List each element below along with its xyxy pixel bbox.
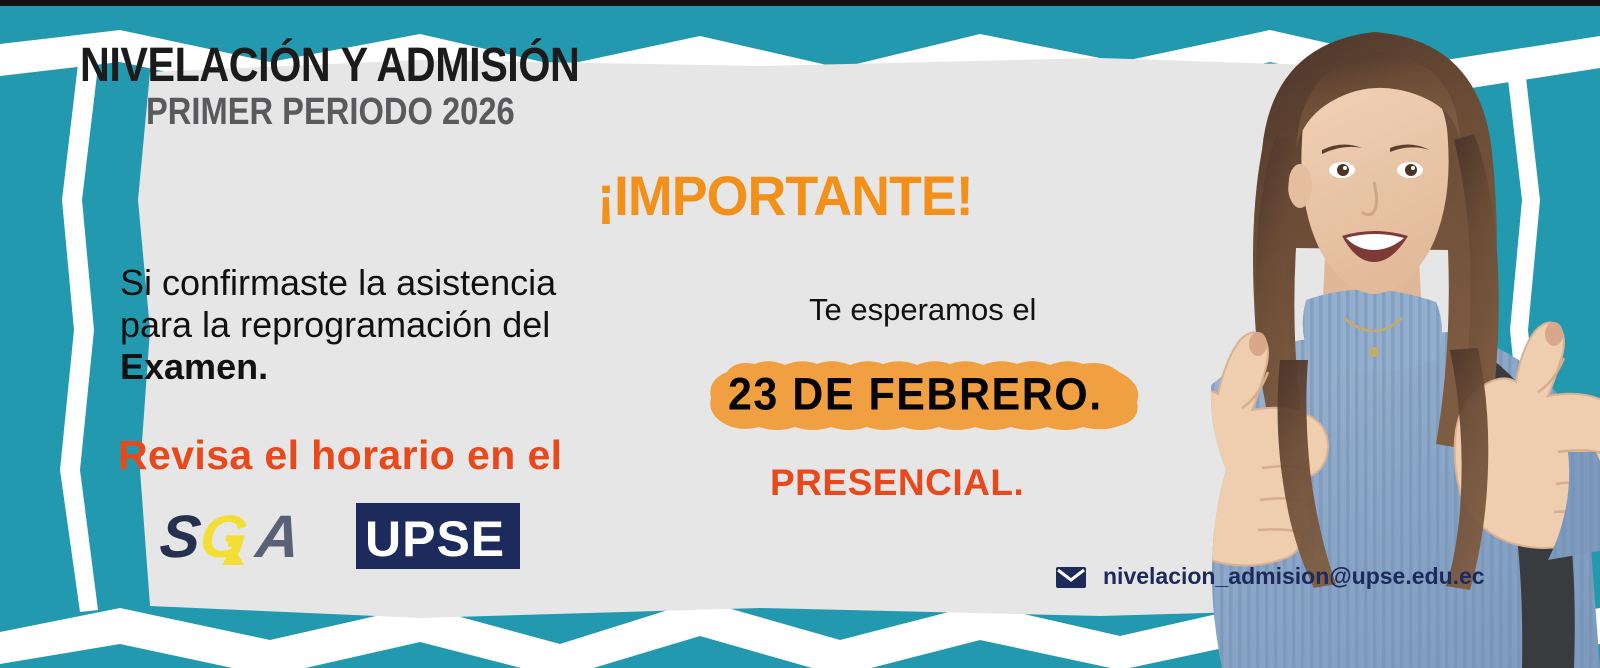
cta-text: Revisa el horario en el [118,432,562,479]
date-text: 23 DE FEBRERO. [705,356,1103,434]
modality-text: PRESENCIAL. [770,462,1024,504]
svg-text:A: A [251,503,303,569]
promotional-banner: NIVELACIÓN Y ADMISIÓN PRIMER PERIODO 202… [0,0,1600,668]
top-black-strip [0,0,1600,6]
heading-block: NIVELACIÓN Y ADMISIÓN PRIMER PERIODO 202… [80,42,661,131]
sga-upse-logo: S G A UPSE [160,503,520,574]
await-label: Te esperamos el [809,292,1036,328]
headline-importante: ¡IMPORTANTE! [597,163,973,228]
date-badge: 23 DE FEBRERO. [705,358,1103,432]
sga-upse-logo-graphic: S G A UPSE [160,503,520,569]
page-title: NIVELACIÓN Y ADMISIÓN [80,42,579,89]
envelope-icon [1055,565,1087,589]
body-line-3-emphasis: Examen. [120,346,680,388]
page-subtitle: PRIMER PERIODO 2026 [146,93,589,131]
svg-text:G: G [197,503,251,569]
body-line-2: para la reprogramación del [120,304,680,346]
body-copy: Si confirmaste la asistencia para la rep… [120,262,680,388]
email-address[interactable]: nivelacion_admision@upse.edu.ec [1103,563,1485,590]
email-contact[interactable]: nivelacion_admision@upse.edu.ec [1055,563,1485,590]
svg-text:UPSE: UPSE [365,511,505,567]
body-line-1: Si confirmaste la asistencia [120,262,680,304]
